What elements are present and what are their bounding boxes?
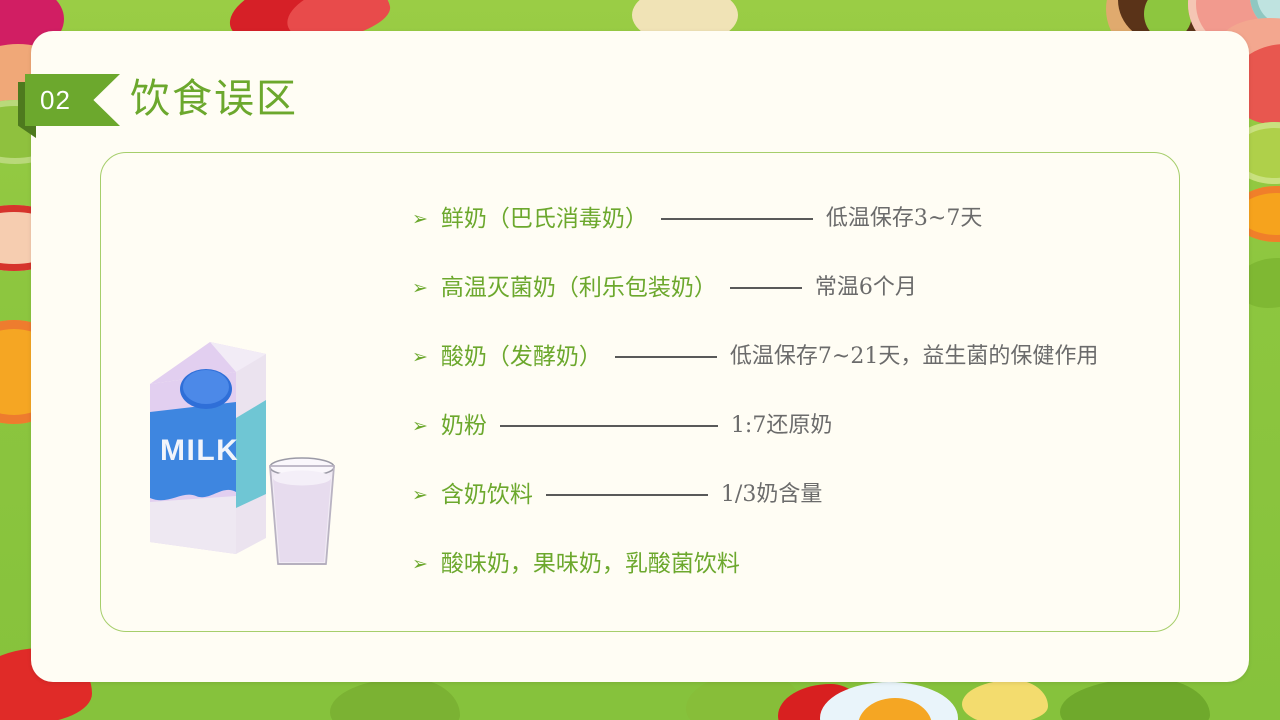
connector-line — [546, 494, 708, 496]
page-title: 饮食误区 — [130, 71, 298, 127]
list-item-term: 酸味奶，果味奶，乳酸菌饮料 — [441, 549, 740, 579]
list-item-term: 高温灭菌奶（利乐包装奶） — [441, 273, 717, 303]
arrow-bullet-icon: ➢ — [412, 555, 428, 574]
milk-illustration: MILK — [138, 326, 353, 576]
strawberry-icon-bottom — [778, 684, 866, 720]
fried-egg-icon — [820, 682, 958, 720]
svg-text:MILK: MILK — [160, 434, 239, 467]
leaf-icon-bottom-left — [330, 678, 460, 720]
connector-line — [730, 287, 802, 289]
list-item: ➢ 酸味奶，果味奶，乳酸菌饮料 — [412, 541, 1172, 587]
connector-line — [661, 218, 813, 220]
list-item-description: 低温保存3~7天 — [826, 204, 982, 234]
list-item: ➢ 高温灭菌奶（利乐包装奶） 常温6个月 — [412, 265, 1172, 311]
list-item-description: 常温6个月 — [815, 273, 917, 303]
lime-slice-icon — [1250, 0, 1280, 32]
arrow-bullet-icon: ➢ — [412, 417, 428, 436]
list-item-description: 1:7还原奶 — [731, 411, 832, 441]
list-item-term: 鲜奶（巴氏消毒奶） — [441, 204, 648, 234]
arrow-bullet-icon: ➢ — [412, 348, 428, 367]
list-item: ➢ 含奶饮料 1/3奶含量 — [412, 472, 1172, 518]
list-item-description: 低温保存7~21天，益生菌的保健作用 — [730, 342, 1098, 372]
slide-root: 02 饮食误区 MILK — [0, 0, 1280, 720]
connector-line — [500, 425, 718, 427]
list-item: ➢ 酸奶（发酵奶） 低温保存7~21天，益生菌的保健作用 — [412, 334, 1172, 380]
arrow-bullet-icon: ➢ — [412, 279, 428, 298]
banana-icon-bottom — [962, 680, 1048, 720]
arrow-bullet-icon: ➢ — [412, 210, 428, 229]
section-number: 02 — [40, 85, 71, 115]
connector-line — [615, 356, 717, 358]
leaf-icon-bottom-right — [1060, 678, 1210, 720]
milk-types-list: ➢ 鲜奶（巴氏消毒奶） 低温保存3~7天 ➢ 高温灭菌奶（利乐包装奶） 常温6个… — [412, 196, 1172, 610]
list-item: ➢ 鲜奶（巴氏消毒奶） 低温保存3~7天 — [412, 196, 1172, 242]
arrow-bullet-icon: ➢ — [412, 486, 428, 505]
list-item-term: 含奶饮料 — [441, 480, 533, 510]
list-item: ➢ 奶粉 1:7还原奶 — [412, 403, 1172, 449]
list-item-term: 酸奶（发酵奶） — [441, 342, 602, 372]
egg-yolk-icon-bottom — [858, 698, 932, 720]
list-item-term: 奶粉 — [441, 411, 487, 441]
list-item-description: 1/3奶含量 — [721, 480, 822, 510]
